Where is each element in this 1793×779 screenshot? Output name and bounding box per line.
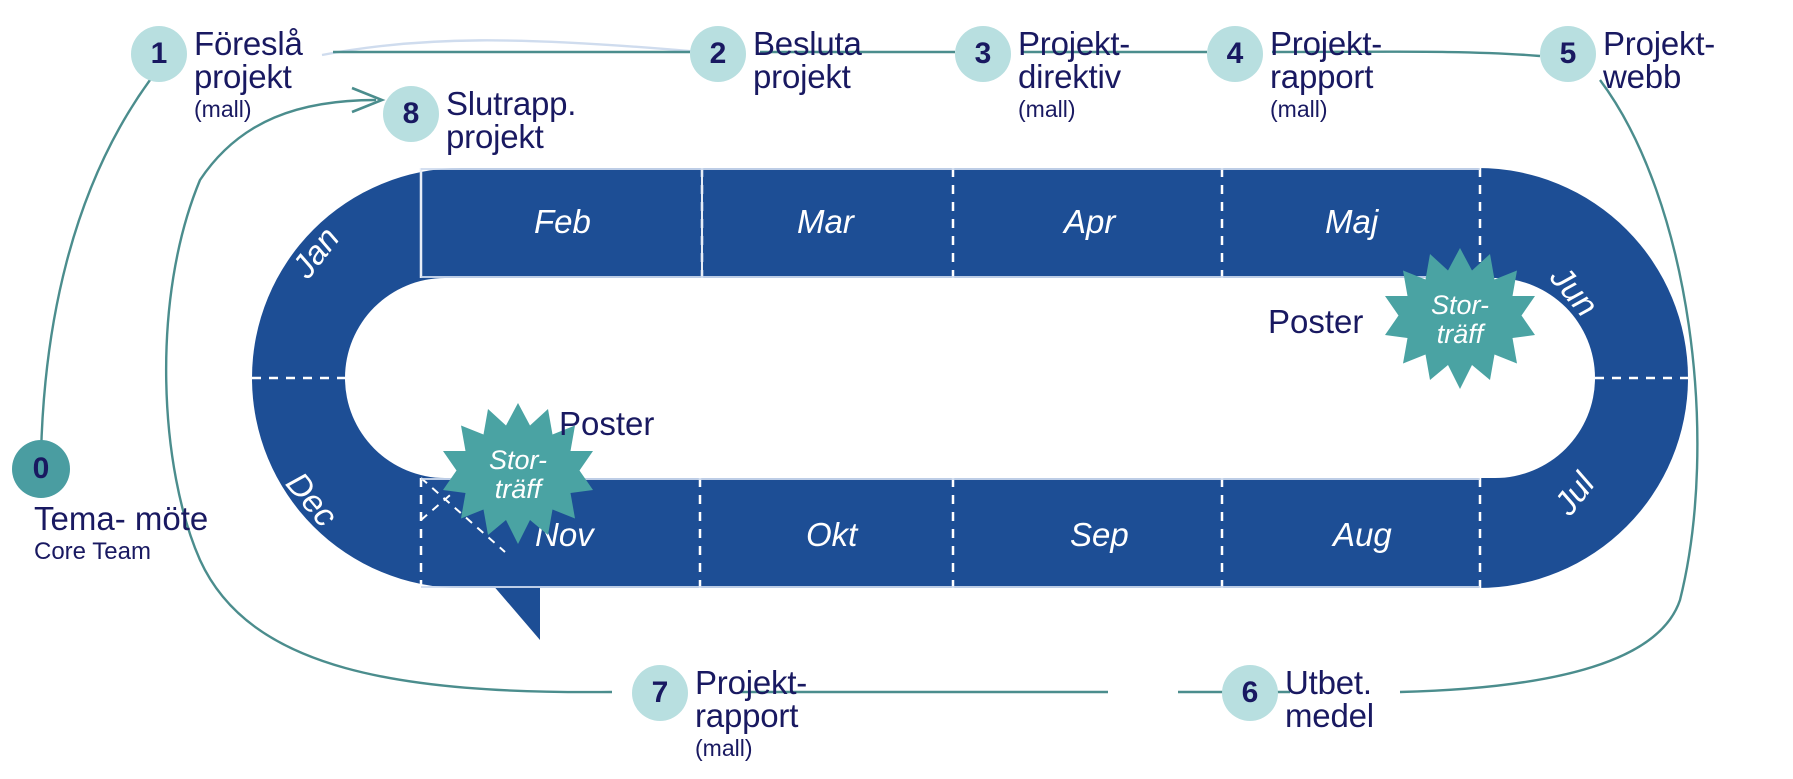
month-label-jul: Jul <box>1548 467 1600 521</box>
step-8-label-line1: Slutrapp. <box>446 85 576 122</box>
step-2-label-line2: projekt <box>753 60 862 93</box>
step-1-label-line2: projekt <box>194 60 303 93</box>
month-label-aug: Aug <box>1333 518 1392 551</box>
step-4-label-line1: Projekt- <box>1270 25 1382 62</box>
month-label-maj: Maj <box>1325 205 1378 238</box>
step-6-number: 6 <box>1222 665 1278 721</box>
step-7-number: 7 <box>632 665 688 721</box>
month-label-mar: Mar <box>797 205 854 238</box>
step-node-0[interactable]: 0 Tema- möte Core Team <box>12 440 208 564</box>
step-7-label-line1: Projekt- <box>695 664 807 701</box>
starburst-shape <box>1385 245 1535 395</box>
month-label-okt: Okt <box>806 518 857 551</box>
step-6-label-line1: Utbet. <box>1285 664 1372 701</box>
step-0-label-line1: Tema- <box>34 500 126 537</box>
step-8-number: 8 <box>383 86 439 142</box>
step-6-label: Utbet. medel <box>1278 665 1374 732</box>
step-0-number: 0 <box>12 440 70 498</box>
step-4-number: 4 <box>1207 26 1263 82</box>
step-5-label-line1: Projekt- <box>1603 25 1715 62</box>
step-8-label: Slutrapp. projekt <box>439 86 576 153</box>
month-label-apr: Apr <box>1064 205 1115 238</box>
month-label-jun: Jun <box>1545 260 1604 322</box>
step-5-label: Projekt- webb <box>1596 26 1715 93</box>
step-1-sublabel: (mall) <box>194 93 303 121</box>
step-4-label-line2: rapport <box>1270 60 1382 93</box>
step-node-4[interactable]: 4 Projekt- rapport (mall) <box>1207 26 1382 121</box>
step-4-label: Projekt- rapport (mall) <box>1263 26 1382 121</box>
step-4-sublabel: (mall) <box>1270 93 1382 121</box>
step-0-label-line2: möte <box>135 500 208 537</box>
step-1-label: Föreslå projekt (mall) <box>187 26 303 121</box>
step-2-label-line1: Besluta <box>753 25 862 62</box>
step-0-label: Tema- möte Core Team <box>12 498 208 564</box>
step-7-sublabel: (mall) <box>695 732 807 760</box>
step-0-sublabel: Core Team <box>34 536 208 564</box>
step-node-2[interactable]: 2 Besluta projekt <box>690 26 862 93</box>
step-3-label: Projekt- direktiv (mall) <box>1011 26 1130 121</box>
month-label-sep: Sep <box>1070 518 1129 551</box>
step-2-label: Besluta projekt <box>746 26 862 93</box>
month-label-feb: Feb <box>534 205 591 238</box>
step-5-number: 5 <box>1540 26 1596 82</box>
step-3-sublabel: (mall) <box>1018 93 1130 121</box>
step-node-5[interactable]: 5 Projekt- webb <box>1540 26 1715 93</box>
step-node-7[interactable]: 7 Projekt- rapport (mall) <box>632 665 807 760</box>
month-label-jan: Jan <box>286 221 345 283</box>
poster-label-left: Poster <box>559 407 654 440</box>
step-node-3[interactable]: 3 Projekt- direktiv (mall) <box>955 26 1130 121</box>
step-node-8[interactable]: 8 Slutrapp. projekt <box>383 86 576 153</box>
milestone-right-starburst[interactable]: Stor- träff <box>1385 245 1535 395</box>
step-7-label: Projekt- rapport (mall) <box>688 665 807 760</box>
step-5-label-line2: webb <box>1603 60 1715 93</box>
poster-label-right: Poster <box>1268 305 1363 338</box>
step-3-label-line2: direktiv <box>1018 60 1130 93</box>
step-7-label-line2: rapport <box>695 699 807 732</box>
step-node-6[interactable]: 6 Utbet. medel <box>1222 665 1374 732</box>
step-node-1[interactable]: 1 Föreslå projekt (mall) <box>131 26 303 121</box>
month-label-dec: Dec <box>281 466 344 532</box>
step-6-label-line2: medel <box>1285 699 1374 732</box>
step-1-number: 1 <box>131 26 187 82</box>
step-8-label-line2: projekt <box>446 120 576 153</box>
diagram-canvas: Jan Feb Mar Apr Maj Jun Dec Nov Okt Sep … <box>0 0 1793 779</box>
step-1-label-line1: Föreslå <box>194 25 303 62</box>
step-3-label-line1: Projekt- <box>1018 25 1130 62</box>
step-2-number: 2 <box>690 26 746 82</box>
step-3-number: 3 <box>955 26 1011 82</box>
